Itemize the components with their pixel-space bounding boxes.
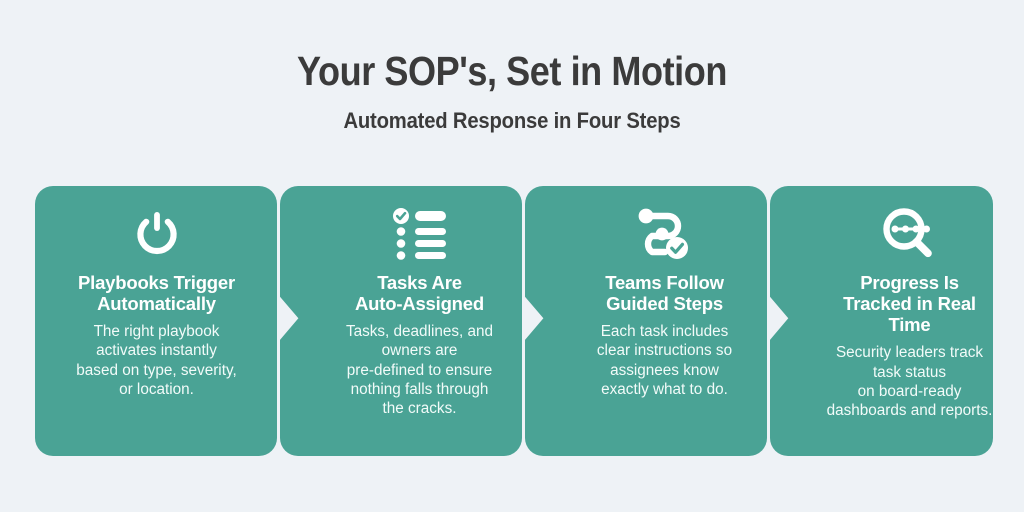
step-body: Security leaders track task status on bo… bbox=[798, 343, 1021, 420]
step-heading: Tasks Are Auto-Assigned bbox=[308, 272, 531, 314]
step-heading: Progress Is Tracked in Real Time bbox=[798, 272, 1021, 335]
page-title: Your SOP's, Set in Motion bbox=[61, 50, 962, 93]
steps-row: Playbooks Trigger Automatically The righ… bbox=[35, 186, 990, 456]
step-card-3[interactable]: Teams Follow Guided Steps Each task incl… bbox=[525, 186, 767, 456]
step-card-4[interactable]: Progress Is Tracked in Real Time Securit… bbox=[770, 186, 993, 456]
step-body: The right playbook activates instantly b… bbox=[45, 322, 268, 399]
step-heading: Teams Follow Guided Steps bbox=[553, 272, 776, 314]
step-card-2[interactable]: Tasks Are Auto-Assigned Tasks, deadlines… bbox=[280, 186, 522, 456]
route-check-icon bbox=[553, 202, 776, 266]
magnifier-progress-icon bbox=[798, 202, 1021, 266]
step-body: Tasks, deadlines, and owners are pre-def… bbox=[308, 322, 531, 418]
step-body: Each task includes clear instructions so… bbox=[553, 322, 776, 399]
header: Your SOP's, Set in Motion Automated Resp… bbox=[0, 50, 1024, 134]
checklist-icon bbox=[308, 202, 531, 266]
page-subtitle: Automated Response in Four Steps bbox=[41, 108, 983, 134]
step-heading: Playbooks Trigger Automatically bbox=[45, 272, 268, 314]
infographic-canvas: Your SOP's, Set in Motion Automated Resp… bbox=[0, 0, 1024, 512]
power-icon bbox=[45, 202, 268, 266]
step-card-1[interactable]: Playbooks Trigger Automatically The righ… bbox=[35, 186, 277, 456]
